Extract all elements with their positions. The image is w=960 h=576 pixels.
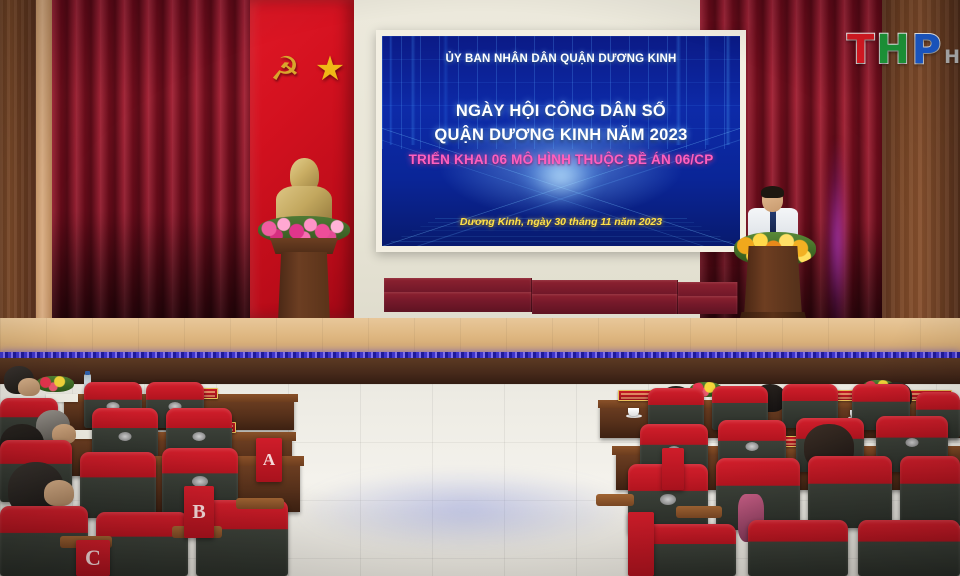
logo-hd-badge: HD <box>944 46 960 68</box>
stage-skirt-panel-5 <box>532 294 678 314</box>
aisle-end-panel-right-back <box>662 448 684 490</box>
slide-text-block: ỦY BAN NHÂN DÂN QUẬN DƯƠNG KINH NGÀY HỘI… <box>382 36 740 246</box>
auditorium-seat <box>748 520 848 576</box>
floor-light-reflection <box>300 470 630 550</box>
projection-screen-frame: ỦY BAN NHÂN DÂN QUẬN DƯƠNG KINH NGÀY HỘI… <box>376 30 746 252</box>
teacup <box>628 408 639 416</box>
auditorium-seat <box>640 524 736 576</box>
slide-date: Dương Kinh, ngày 30 tháng 11 năm 2023 <box>382 216 740 228</box>
row-marker-b: B <box>184 486 214 538</box>
auditorium-seat <box>80 452 156 518</box>
stage-skirt-panel-6 <box>678 296 738 314</box>
speaker-at-podium <box>740 188 810 338</box>
gold-star-icon: ★ <box>313 52 347 86</box>
audience-member-face <box>18 378 40 396</box>
seat-number-badge <box>193 432 206 441</box>
bust-flower-pot <box>270 238 338 254</box>
speaker-hair <box>761 186 784 198</box>
seat-number-badge <box>746 442 759 451</box>
auditorium-seat <box>808 456 892 528</box>
auditorium-scene: ☭ ★ ỦY BAN NHÂN DÂN QUẬN DƯƠNG KINH NGÀY… <box>0 0 960 576</box>
row-marker-c: C <box>76 540 110 576</box>
auditorium-seat <box>858 520 960 576</box>
logo-letter-t: T <box>846 30 875 70</box>
wood-wall-panel-left <box>0 0 36 332</box>
auditorium-seat <box>900 456 960 528</box>
table-flower-vase <box>36 376 74 392</box>
seat-armrest <box>676 506 722 518</box>
stage-floor <box>0 318 960 356</box>
audience-member-face <box>44 480 74 506</box>
channel-logo: T H P HD <box>846 30 960 70</box>
stage-skirt-panel-4 <box>384 292 532 312</box>
logo-letter-p: P <box>911 30 942 70</box>
purple-stage-light <box>826 140 848 340</box>
logo-letter-h: H <box>875 30 910 70</box>
seat-number-badge <box>660 494 676 505</box>
slide-title-line1: NGÀY HỘI CÔNG DÂN SỐ <box>382 102 740 121</box>
ho-chi-minh-bust <box>262 158 346 334</box>
hammer-and-sickle-icon: ☭ <box>268 52 302 86</box>
row-marker-a: A <box>256 438 282 482</box>
aisle-end-panel-right <box>628 512 654 576</box>
seat-number-badge <box>119 432 132 441</box>
pilaster-left <box>36 0 52 332</box>
thp-letters: T H P <box>846 30 942 70</box>
seat-number-badge <box>906 438 919 447</box>
slide-subtitle: TRIỂN KHAI 06 MÔ HÌNH THUỘC ĐỀ ÁN 06/CP <box>382 152 740 167</box>
bust-pedestal <box>278 252 330 322</box>
podium <box>744 246 802 316</box>
slide-organization: ỦY BAN NHÂN DÂN QUẬN DƯƠNG KINH <box>382 53 740 65</box>
seat-armrest <box>236 498 284 509</box>
seat-armrest <box>596 494 634 506</box>
stage-curtain-left <box>52 0 250 318</box>
stage-front-wall <box>0 358 960 384</box>
speaker-tie <box>770 210 776 234</box>
projection-screen: ỦY BAN NHÂN DÂN QUẬN DƯƠNG KINH NGÀY HỘI… <box>382 36 740 246</box>
slide-title-line2: QUẬN DƯƠNG KINH NĂM 2023 <box>382 126 740 145</box>
